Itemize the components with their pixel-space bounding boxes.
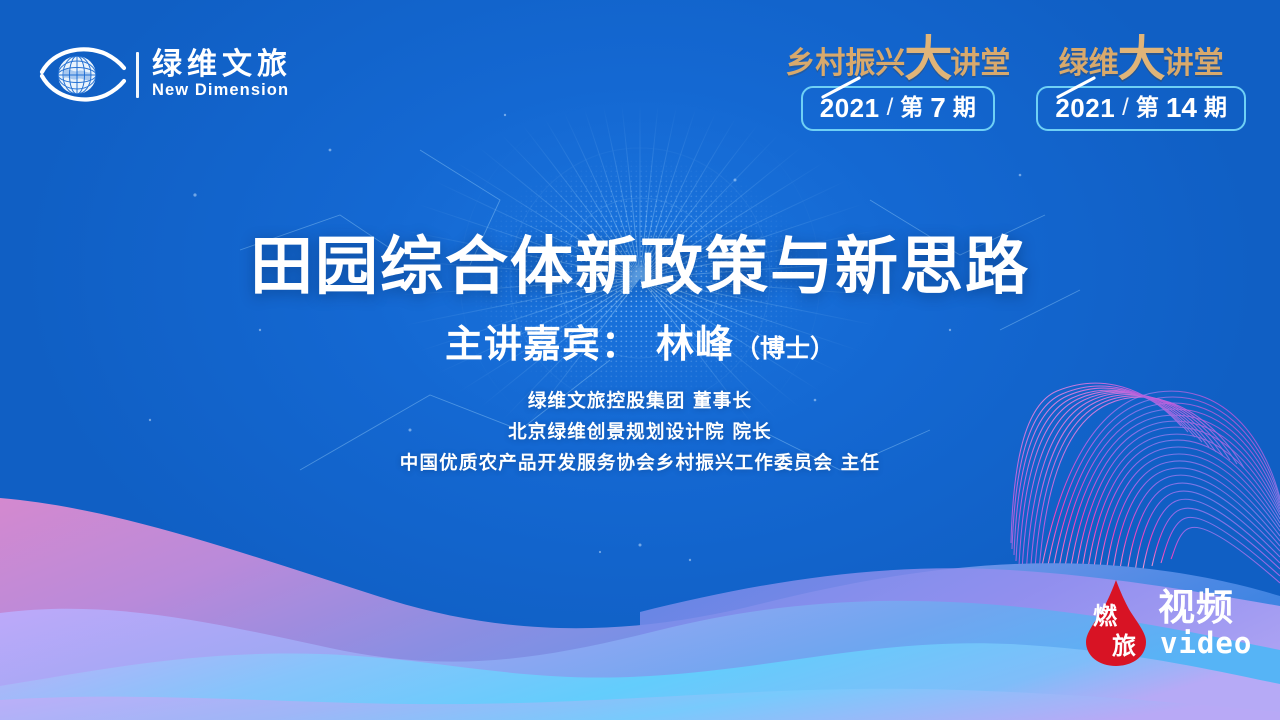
program-big-char: 大 <box>904 40 951 78</box>
program-suffix: 讲堂 <box>1164 50 1224 79</box>
issue-number: 14 <box>1166 94 1197 122</box>
issue-label: 第 <box>900 97 923 120</box>
issue-badge-2[interactable]: 2021 / 第 14 期 <box>1036 86 1246 131</box>
program-title-2: 绿维 大 讲堂 <box>1059 40 1224 78</box>
logo-divider <box>136 52 139 98</box>
program-prefix: 绿维 <box>1059 50 1119 79</box>
video-logo-cn: 视频 <box>1158 589 1252 626</box>
issue-label: 第 <box>1136 97 1159 120</box>
drop-char-top: 燃 <box>1093 602 1118 630</box>
program-badges: 乡村振兴 大 讲堂 2021 / 第 7 期 绿维 大 讲堂 <box>785 40 1246 131</box>
issue-badge-1[interactable]: 2021 / 第 7 期 <box>801 86 995 131</box>
badge-rural-revitalization[interactable]: 乡村振兴 大 讲堂 2021 / 第 7 期 <box>785 40 1010 131</box>
video-logo-en: video <box>1160 629 1252 658</box>
issue-separator: / <box>887 96 894 120</box>
program-title-1: 乡村振兴 大 讲堂 <box>785 40 1010 78</box>
issue-separator: / <box>1122 96 1129 120</box>
logo-en-name: New Dimension <box>152 81 292 100</box>
drop-char-bottom: 旅 <box>1112 632 1136 660</box>
slide-canvas: 绿维文旅 New Dimension 乡村振兴 大 讲堂 2021 / 第 7 … <box>0 0 1280 720</box>
eye-globe-icon <box>38 42 130 108</box>
issue-number: 7 <box>930 94 946 122</box>
issue-unit: 期 <box>1204 97 1227 120</box>
flame-droplet-icon: 燃 旅 <box>1078 578 1154 668</box>
brand-logo[interactable]: 绿维文旅 New Dimension <box>38 42 292 108</box>
program-prefix: 乡村振兴 <box>785 50 905 79</box>
program-suffix: 讲堂 <box>950 50 1010 79</box>
issue-year: 2021 <box>1055 95 1115 121</box>
issue-unit: 期 <box>953 97 976 120</box>
issue-year: 2021 <box>820 95 880 121</box>
logo-cn-name: 绿维文旅 <box>152 50 292 81</box>
program-big-char: 大 <box>1118 40 1165 78</box>
video-channel-logo[interactable]: 燃 旅 视频 video <box>1078 578 1252 668</box>
badge-lvwei-lecture[interactable]: 绿维 大 讲堂 2021 / 第 14 期 <box>1036 40 1246 131</box>
